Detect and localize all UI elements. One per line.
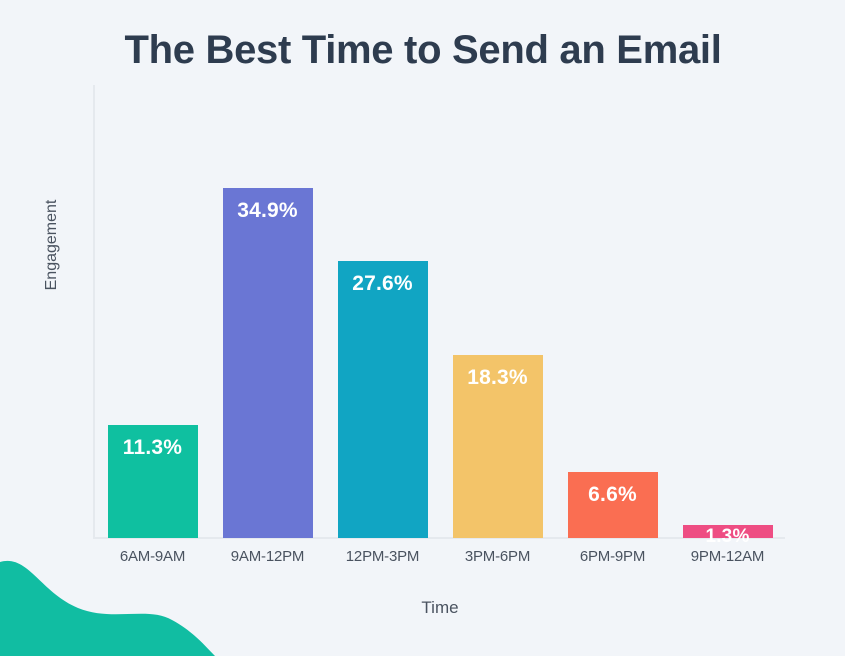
chart-canvas: The Best Time to Send an Email Engagemen… [0,0,845,656]
bar-9am-12pm[interactable]: 34.9% [223,188,313,538]
x-tick-label: 9AM-12PM [210,548,325,565]
page-title: The Best Time to Send an Email [93,28,753,73]
bar-value-label: 11.3% [108,436,198,460]
bar-value-label: 1.3% [683,526,773,548]
x-axis-title: Time [95,598,785,618]
x-tick-label: 9PM-12AM [670,548,785,565]
bar-value-label: 18.3% [453,366,543,390]
bar-12pm-3pm[interactable]: 27.6% [338,261,428,538]
bar-series: 11.3% 34.9% 27.6% 18.3% 6.6% [95,85,785,538]
x-tick-label: 6PM-9PM [555,548,670,565]
bar-value-label: 6.6% [568,483,658,507]
y-axis-title: Engagement [43,175,61,315]
bar-9pm-12am[interactable]: 1.3% [683,525,773,538]
bar-value-label: 27.6% [338,272,428,296]
bar-value-label: 34.9% [223,199,313,223]
bar-slot: 27.6% [325,85,440,538]
bar-slot: 11.3% [95,85,210,538]
x-axis-tick-labels: 6AM-9AM 9AM-12PM 12PM-3PM 3PM-6PM 6PM-9P… [95,548,785,565]
plot-area: 11.3% 34.9% 27.6% 18.3% 6.6% [93,85,785,538]
x-tick-label: 3PM-6PM [440,548,555,565]
bar-6am-9am[interactable]: 11.3% [108,425,198,538]
bar-slot: 34.9% [210,85,325,538]
bar-slot: 18.3% [440,85,555,538]
bar-6pm-9pm[interactable]: 6.6% [568,472,658,538]
x-tick-label: 6AM-9AM [95,548,210,565]
bar-slot: 1.3% [670,85,785,538]
bar-3pm-6pm[interactable]: 18.3% [453,355,543,538]
x-tick-label: 12PM-3PM [325,548,440,565]
bar-slot: 6.6% [555,85,670,538]
